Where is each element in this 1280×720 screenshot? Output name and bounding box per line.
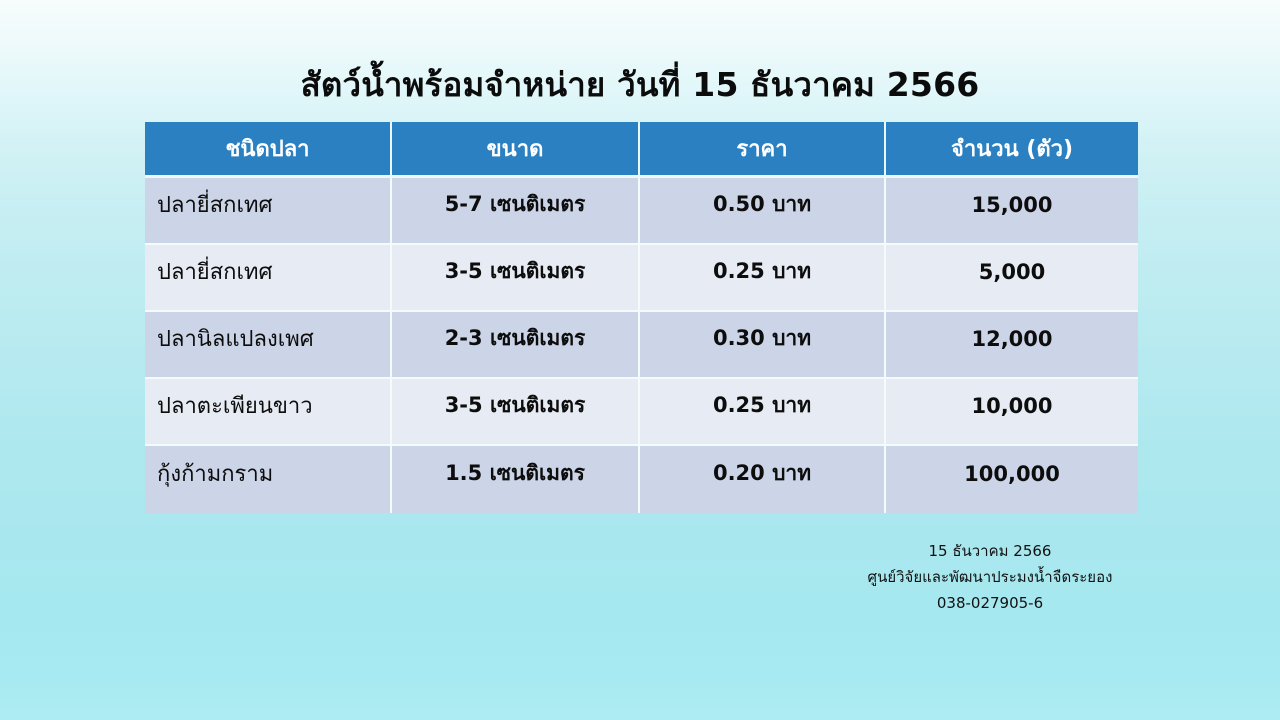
cell-fish-type: กุ้งก้ามกราม [145,446,392,513]
footer-phone: 038-027905-6 [660,590,1280,616]
cell-fish-type: ปลายี่สกเทศ [145,178,392,245]
slide: สัตว์น้ำพร้อมจำหน่าย วันที่ 15 ธันวาคม 2… [0,0,1280,720]
cell-fish-type: ปลานิลแปลงเพศ [145,312,392,379]
cell-fish-type: ปลายี่สกเทศ [145,245,392,312]
footer-date: 15 ธันวาคม 2566 [660,538,1280,564]
column-header-size: ขนาด [392,122,640,178]
page-title: สัตว์น้ำพร้อมจำหน่าย วันที่ 15 ธันวาคม 2… [0,58,1280,111]
cell-quantity: 100,000 [886,446,1138,513]
table-body: ปลายี่สกเทศ 5-7 เซนติเมตร 0.50 บาท 15,00… [145,178,1138,513]
cell-price: 0.50 บาท [640,178,886,245]
column-header-price: ราคา [640,122,886,178]
cell-size: 2-3 เซนติเมตร [392,312,640,379]
cell-quantity: 12,000 [886,312,1138,379]
column-header-quantity: จำนวน (ตัว) [886,122,1138,178]
table-row: ปลาตะเพียนขาว 3-5 เซนติเมตร 0.25 บาท 10,… [145,379,1138,446]
table-row: ปลานิลแปลงเพศ 2-3 เซนติเมตร 0.30 บาท 12,… [145,312,1138,379]
cell-fish-type: ปลาตะเพียนขาว [145,379,392,446]
table-row: ปลายี่สกเทศ 3-5 เซนติเมตร 0.25 บาท 5,000 [145,245,1138,312]
cell-quantity: 10,000 [886,379,1138,446]
cell-size: 1.5 เซนติเมตร [392,446,640,513]
cell-price: 0.25 บาท [640,245,886,312]
footer-organization: ศูนย์วิจัยและพัฒนาประมงน้ำจืดระยอง [660,564,1280,590]
footer: 15 ธันวาคม 2566 ศูนย์วิจัยและพัฒนาประมงน… [660,538,1280,616]
table-row: กุ้งก้ามกราม 1.5 เซนติเมตร 0.20 บาท 100,… [145,446,1138,513]
cell-size: 3-5 เซนติเมตร [392,245,640,312]
table-header-row: ชนิดปลา ขนาด ราคา จำนวน (ตัว) [145,122,1138,178]
table-row: ปลายี่สกเทศ 5-7 เซนติเมตร 0.50 บาท 15,00… [145,178,1138,245]
cell-quantity: 15,000 [886,178,1138,245]
cell-price: 0.30 บาท [640,312,886,379]
cell-size: 5-7 เซนติเมตร [392,178,640,245]
fish-availability-table: ชนิดปลา ขนาด ราคา จำนวน (ตัว) ปลายี่สกเท… [145,122,1138,513]
cell-price: 0.25 บาท [640,379,886,446]
table: ชนิดปลา ขนาด ราคา จำนวน (ตัว) ปลายี่สกเท… [145,122,1138,513]
table-header: ชนิดปลา ขนาด ราคา จำนวน (ตัว) [145,122,1138,178]
column-header-fish-type: ชนิดปลา [145,122,392,178]
cell-quantity: 5,000 [886,245,1138,312]
cell-price: 0.20 บาท [640,446,886,513]
cell-size: 3-5 เซนติเมตร [392,379,640,446]
